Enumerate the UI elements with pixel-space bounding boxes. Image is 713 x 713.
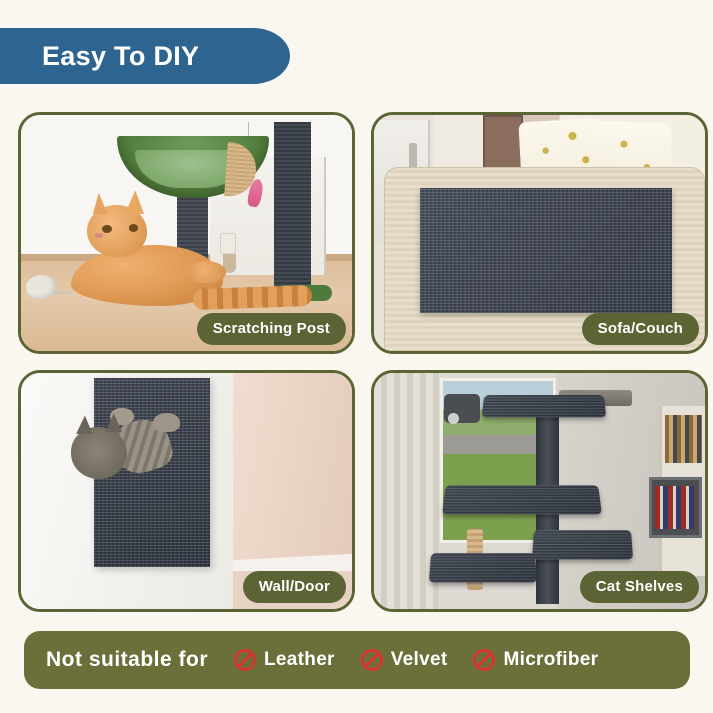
cat-eye-left xyxy=(102,225,112,233)
chip-wall-door: Wall/Door xyxy=(243,571,346,603)
cat-head xyxy=(71,427,127,479)
page-title: Easy To DIY xyxy=(42,43,199,70)
chip-scratching-post: Scratching Post xyxy=(197,313,346,345)
scratching-post-tall xyxy=(274,122,310,292)
panel-scratching-post[interactable]: Scratching Post xyxy=(18,112,355,354)
panel-cat-shelves[interactable]: Cat Shelves xyxy=(371,370,708,612)
toy-mouse xyxy=(26,275,56,299)
cat-paw-upper xyxy=(153,413,179,432)
not-suitable-bar: Not suitable for Leather Velvet Microfib… xyxy=(24,631,690,689)
not-suitable-label: Not suitable for xyxy=(46,648,208,672)
material-leather: Leather xyxy=(234,649,335,671)
chip-cat-shelves: Cat Shelves xyxy=(580,571,699,603)
material-velvet: Velvet xyxy=(361,649,448,671)
cat-eye-right xyxy=(129,224,139,232)
toy-mouse-tail xyxy=(54,292,71,294)
material-leather-label: Leather xyxy=(264,649,335,671)
carpet-shelf-right xyxy=(532,530,633,559)
prohibition-icon xyxy=(361,649,383,671)
header-banner: Easy To DIY xyxy=(0,28,290,84)
car-wheel xyxy=(448,413,459,424)
panel-grid: Scratching Post Sofa/Couch xyxy=(18,112,695,612)
carpet-shelf-top xyxy=(482,395,607,417)
cat-nose xyxy=(95,233,103,238)
panel-sofa-couch[interactable]: Sofa/Couch xyxy=(371,112,708,354)
material-microfiber: Microfiber xyxy=(473,649,598,671)
prohibition-icon xyxy=(473,649,495,671)
panel-wall-door[interactable]: Wall/Door xyxy=(18,370,355,612)
wood-cabinet xyxy=(483,115,523,174)
wall-socket xyxy=(220,233,237,254)
cat-body xyxy=(21,458,114,604)
books-lower xyxy=(655,486,695,528)
prohibition-icon xyxy=(234,649,256,671)
cat-paw xyxy=(190,261,226,282)
chip-sofa-couch: Sofa/Couch xyxy=(582,313,699,345)
scratching-mat xyxy=(420,188,672,313)
carpet-shelf-lower xyxy=(429,553,537,582)
carpet-shelf-middle xyxy=(442,485,601,514)
material-microfiber-label: Microfiber xyxy=(503,649,598,671)
books-upper xyxy=(665,415,701,462)
material-velvet-label: Velvet xyxy=(391,649,448,671)
